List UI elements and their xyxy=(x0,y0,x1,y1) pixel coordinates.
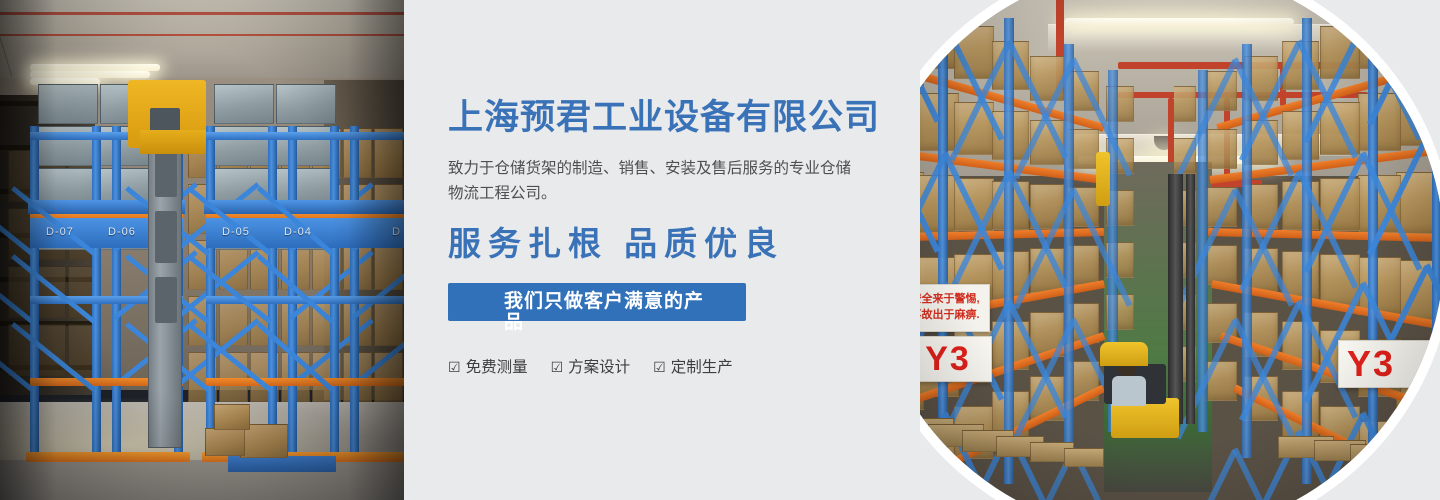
floor-pallet xyxy=(1386,448,1430,467)
hero-text-inner: 上海预君工业设备有限公司 致力于仓储货架的制造、销售、安装及售后服务的专业仓储物… xyxy=(448,98,918,377)
hero-banner: D-07D-06D-05D-04D 上海预君工业设备有限公司 致力于仓储货架的制… xyxy=(0,0,1440,500)
right-photo-scene: 安全来于警惕, 事故出于麻痹. Y3 Y3 xyxy=(920,0,1440,500)
feature-list: ☑ 免费测量 ☑ 方案设计 ☑ 定制生产 xyxy=(448,355,918,377)
cta-button[interactable]: 我们只做客户满意的产品 xyxy=(448,283,746,321)
left-photo-vignette xyxy=(0,0,404,500)
checkbox-checked-icon: ☑ xyxy=(653,360,666,374)
right-warehouse-photo: 安全来于警惕, 事故出于麻痹. Y3 Y3 xyxy=(920,0,1440,500)
company-description: 致力于仓储货架的制造、销售、安装及售后服务的专业仓储物流工程公司。 xyxy=(448,156,863,206)
company-slogan: 服务扎根 品质优良 xyxy=(448,225,918,263)
feature-item-free-measurement: ☑ 免费测量 xyxy=(448,355,528,377)
right-photo-wrapper: 安全来于警惕, 事故出于麻痹. Y3 Y3 xyxy=(920,0,1440,500)
feature-label: 定制生产 xyxy=(671,355,733,377)
checkbox-checked-icon: ☑ xyxy=(448,360,461,374)
left-photo-scene: D-07D-06D-05D-04D xyxy=(0,0,404,500)
left-warehouse-photo: D-07D-06D-05D-04D xyxy=(0,0,404,500)
feature-label: 方案设计 xyxy=(568,355,630,377)
right-photo-vignette xyxy=(920,0,1440,500)
feature-item-scheme-design: ☑ 方案设计 xyxy=(551,355,631,377)
feature-item-custom-production: ☑ 定制生产 xyxy=(653,355,733,377)
hero-text-panel: 上海预君工业设备有限公司 致力于仓储货架的制造、销售、安装及售后服务的专业仓储物… xyxy=(404,0,960,500)
checkbox-checked-icon: ☑ xyxy=(551,360,564,374)
company-title: 上海预君工业设备有限公司 xyxy=(448,98,918,138)
feature-label: 免费测量 xyxy=(466,355,528,377)
